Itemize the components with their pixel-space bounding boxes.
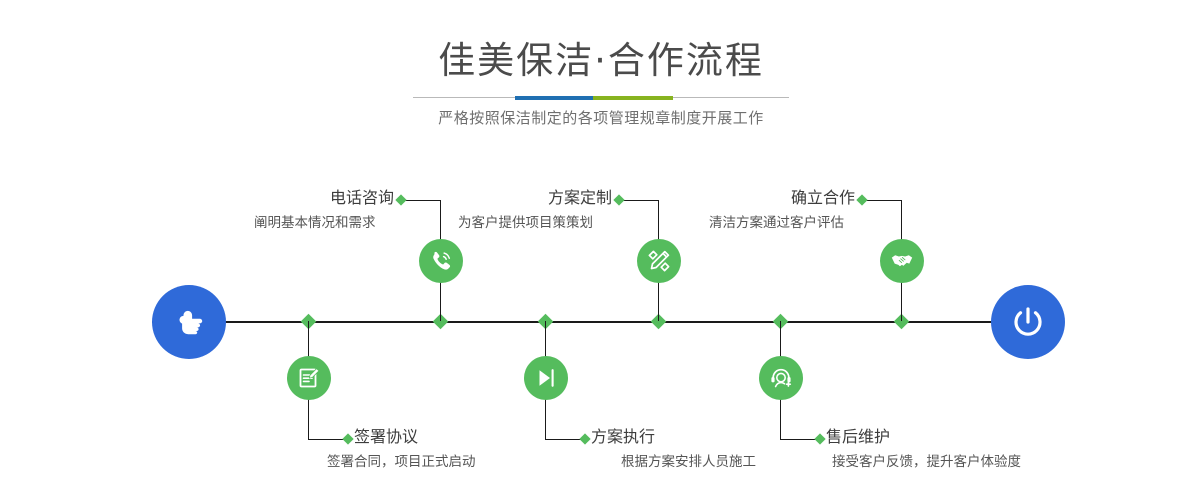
document-sign-icon: [296, 365, 322, 391]
step-2-icon-badge: [287, 356, 331, 400]
step-3-elbow: [619, 200, 659, 201]
timeline-end-node: [991, 285, 1065, 359]
pencil-ruler-icon: [646, 248, 672, 274]
step-5-icon-badge: [880, 239, 924, 283]
cooperation-process-infographic: 佳美保洁·合作流程 严格按照保洁制定的各项管理规章制度开展工作: [0, 0, 1202, 502]
divider-green-segment: [593, 96, 673, 100]
customer-service-icon: [768, 365, 794, 391]
step-1-title: 电话咨询: [229, 188, 394, 208]
power-icon: [1007, 301, 1049, 343]
step-3-icon-badge: [637, 239, 681, 283]
step-1-elbow: [401, 200, 441, 201]
step-1-desc: 阐明基本情况和需求: [254, 213, 376, 233]
step-5-elbow: [862, 200, 902, 201]
handshake-icon: [889, 248, 915, 274]
title-divider: [413, 96, 789, 100]
step-6-title: 售后维护: [826, 427, 890, 447]
step-5-label-marker: [856, 194, 867, 205]
timeline-axis: [152, 321, 1050, 323]
step-1-icon-badge: [419, 239, 463, 283]
step-3-title: 方案定制: [447, 188, 612, 208]
step-2-label-marker: [342, 433, 353, 444]
step-2-desc: 签署合同，项目正式启动: [327, 452, 476, 472]
timeline-start-node: [152, 285, 226, 359]
step-5-title: 确立合作: [690, 188, 855, 208]
step-6-icon-badge: [759, 356, 803, 400]
step-3-desc: 为客户提供项目策策划: [458, 213, 593, 233]
step-4-label-marker: [579, 433, 590, 444]
step-6-label-marker: [814, 433, 825, 444]
phone-call-icon: [428, 248, 454, 274]
divider-blue-segment: [515, 96, 593, 100]
step-1-label-marker: [395, 194, 406, 205]
page-subtitle: 严格按照保洁制定的各项管理规章制度开展工作: [0, 106, 1202, 130]
pointing-hand-icon: [169, 302, 209, 342]
step-5-desc: 清洁方案通过客户评估: [709, 213, 844, 233]
step-2-title: 签署协议: [354, 427, 418, 447]
page-title: 佳美保洁·合作流程: [0, 38, 1202, 84]
step-4-icon-badge: [524, 356, 568, 400]
step-4-title: 方案执行: [591, 427, 655, 447]
step-3-label-marker: [613, 194, 624, 205]
play-execute-icon: [533, 365, 559, 391]
step-6-desc: 接受客户反馈，提升客户体验度: [832, 452, 1021, 472]
step-4-desc: 根据方案安排人员施工: [621, 452, 756, 472]
